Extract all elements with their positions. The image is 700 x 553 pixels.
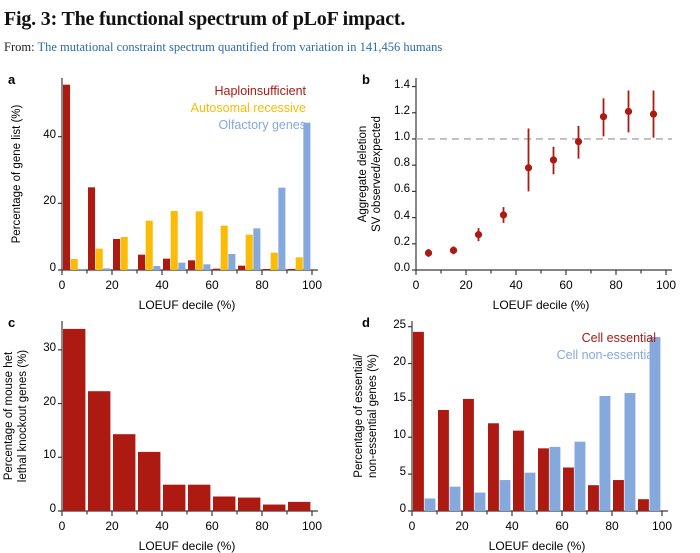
bar-olfactory-genes-45 <box>178 263 185 270</box>
data-point-35 <box>500 211 507 218</box>
bar-haploinsufficient-35 <box>138 255 145 270</box>
data-point-85 <box>625 108 632 115</box>
bar-olfactory-genes-95 <box>303 123 310 270</box>
panel-c-xtick: 40 <box>142 519 182 533</box>
bar-olfactory-genes-55 <box>203 264 210 270</box>
panel-d-xtick: 20 <box>442 519 482 533</box>
panel-a-xtick: 0 <box>42 278 82 292</box>
bar-cell-non-essential-35 <box>500 480 511 511</box>
bar-autosomal-recessive-85 <box>271 253 278 270</box>
bar-autosomal-recessive-25 <box>121 237 128 270</box>
panel-b-xtick: 40 <box>496 278 536 292</box>
bar-autosomal-recessive-15 <box>96 249 103 270</box>
panel-d-xtick: 100 <box>642 519 682 533</box>
bar-cell-essential-75 <box>588 485 599 511</box>
bar-cell-non-essential-75 <box>600 396 611 511</box>
panel-c: c0102030020406080100LOEUF decile (%)Perc… <box>0 305 350 542</box>
data-point-75 <box>600 113 607 120</box>
panel-a-xtick: 40 <box>142 278 182 292</box>
bar-cell-non-essential-5 <box>425 498 436 511</box>
data-point-95 <box>650 110 657 117</box>
bar-mouse-het-lethal-knockout-85 <box>263 505 285 511</box>
bar-mouse-het-lethal-knockout-75 <box>238 498 260 511</box>
panel-b-xtick: 80 <box>596 278 636 292</box>
panel-c-xtick: 100 <box>292 519 332 533</box>
bar-haploinsufficient-75 <box>238 266 245 270</box>
data-point-25 <box>475 231 482 238</box>
panel-b: b0.00.20.40.60.81.01.21.4020406080100LOE… <box>350 68 700 305</box>
panel-c-xlabel: LOEUF decile (%) <box>52 539 322 553</box>
panel-b-ylabel: Aggregate deletionSV observed/expected <box>356 59 384 289</box>
panel-d-xtick: 60 <box>542 519 582 533</box>
bar-mouse-het-lethal-knockout-5 <box>63 329 85 511</box>
data-point-65 <box>575 138 582 145</box>
panel-a-xtick: 80 <box>242 278 282 292</box>
bar-haploinsufficient-25 <box>113 239 120 270</box>
bar-mouse-het-lethal-knockout-65 <box>213 497 235 512</box>
figure-source: From: The mutational constraint spectrum… <box>0 31 700 55</box>
panel-c-xtick: 60 <box>192 519 232 533</box>
bar-mouse-het-lethal-knockout-55 <box>188 485 210 511</box>
bar-haploinsufficient-85 <box>263 269 270 270</box>
panel-grid: a02040020406080100LOEUF decile (%)Percen… <box>0 68 700 542</box>
bar-cell-essential-65 <box>563 468 574 512</box>
bar-olfactory-genes-75 <box>253 228 260 270</box>
panel-d: d0510152025020406080100LOEUF decile (%)P… <box>350 305 700 542</box>
panel-d-xtick: 80 <box>592 519 632 533</box>
panel-a-legend-item: Haploinsufficient <box>66 84 330 98</box>
bar-mouse-het-lethal-knockout-35 <box>138 452 160 511</box>
panel-a-ylabel: Percentage of gene list (%) <box>10 59 24 289</box>
panel-b-xtick: 20 <box>446 278 486 292</box>
bar-autosomal-recessive-65 <box>221 226 228 270</box>
panel-a-xtick: 60 <box>192 278 232 292</box>
bar-cell-non-essential-95 <box>650 337 661 511</box>
panel-d-legend-item: Cell essential <box>416 331 690 345</box>
bar-haploinsufficient-95 <box>288 269 295 270</box>
bar-mouse-het-lethal-knockout-45 <box>163 485 185 511</box>
bar-cell-non-essential-85 <box>625 393 636 511</box>
bar-olfactory-genes-5 <box>78 269 85 270</box>
bar-cell-non-essential-15 <box>450 487 461 511</box>
bar-haploinsufficient-55 <box>188 260 195 270</box>
data-point-15 <box>450 247 457 254</box>
figure-root: Fig. 3: The functional spectrum of pLoF … <box>0 0 700 542</box>
source-article-link[interactable]: The mutational constraint spectrum quant… <box>37 40 442 54</box>
bar-olfactory-genes-35 <box>153 266 160 270</box>
bar-olfactory-genes-85 <box>278 188 285 270</box>
panel-a-legend-item: Olfactory genes <box>66 118 330 132</box>
bar-cell-essential-55 <box>538 448 549 511</box>
panel-d-xtick: 40 <box>492 519 532 533</box>
figure-title: Fig. 3: The functional spectrum of pLoF … <box>0 0 700 31</box>
bar-cell-non-essential-65 <box>575 442 586 511</box>
bar-autosomal-recessive-95 <box>296 257 303 270</box>
source-prefix: From: <box>4 40 35 54</box>
bar-autosomal-recessive-45 <box>171 211 178 270</box>
panel-b-xtick: 100 <box>646 278 686 292</box>
bar-cell-essential-15 <box>438 410 449 511</box>
panel-c-xtick: 20 <box>92 519 132 533</box>
panel-c-xtick: 80 <box>242 519 282 533</box>
figure-header: Fig. 3: The functional spectrum of pLoF … <box>0 0 700 55</box>
data-point-45 <box>525 164 532 171</box>
panel-b-xtick: 0 <box>396 278 436 292</box>
bar-autosomal-recessive-55 <box>196 211 203 270</box>
bar-autosomal-recessive-75 <box>246 235 253 270</box>
bar-cell-non-essential-45 <box>525 473 536 511</box>
bar-olfactory-genes-25 <box>128 269 135 270</box>
bar-cell-essential-95 <box>638 499 649 511</box>
data-point-55 <box>550 156 557 163</box>
bar-mouse-het-lethal-knockout-15 <box>88 391 110 511</box>
bar-cell-essential-35 <box>488 423 499 511</box>
bar-autosomal-recessive-35 <box>146 221 153 270</box>
panel-a-legend-item: Autosomal recessive <box>66 101 330 115</box>
panel-c-xtick: 0 <box>42 519 82 533</box>
bar-olfactory-genes-65 <box>228 254 235 270</box>
bar-cell-essential-85 <box>613 480 624 511</box>
panel-b-xtick: 60 <box>546 278 586 292</box>
bar-cell-essential-25 <box>463 399 474 511</box>
bar-autosomal-recessive-5 <box>71 259 78 270</box>
panel-d-xlabel: LOEUF decile (%) <box>402 539 672 553</box>
panel-a: a02040020406080100LOEUF decile (%)Percen… <box>0 68 350 305</box>
bar-cell-non-essential-25 <box>475 493 486 511</box>
bar-haploinsufficient-15 <box>88 187 95 270</box>
panel-d-legend-item: Cell non-essential <box>416 348 690 362</box>
bar-mouse-het-lethal-knockout-95 <box>288 502 310 511</box>
data-point-5 <box>425 249 432 256</box>
panel-a-xtick: 20 <box>92 278 132 292</box>
bar-olfactory-genes-15 <box>103 268 110 270</box>
panel-d-ylabel: Percentage of essential/non-essential ge… <box>352 302 380 530</box>
panel-a-xtick: 100 <box>292 278 332 292</box>
bar-haploinsufficient-65 <box>213 269 220 270</box>
bar-haploinsufficient-45 <box>163 259 170 270</box>
bar-cell-non-essential-55 <box>550 447 561 511</box>
bar-cell-essential-45 <box>513 431 524 511</box>
panel-c-ylabel: Percentage of mouse hetlethal knockout g… <box>2 302 30 530</box>
bar-mouse-het-lethal-knockout-25 <box>113 434 135 511</box>
panel-d-xtick: 0 <box>392 519 432 533</box>
